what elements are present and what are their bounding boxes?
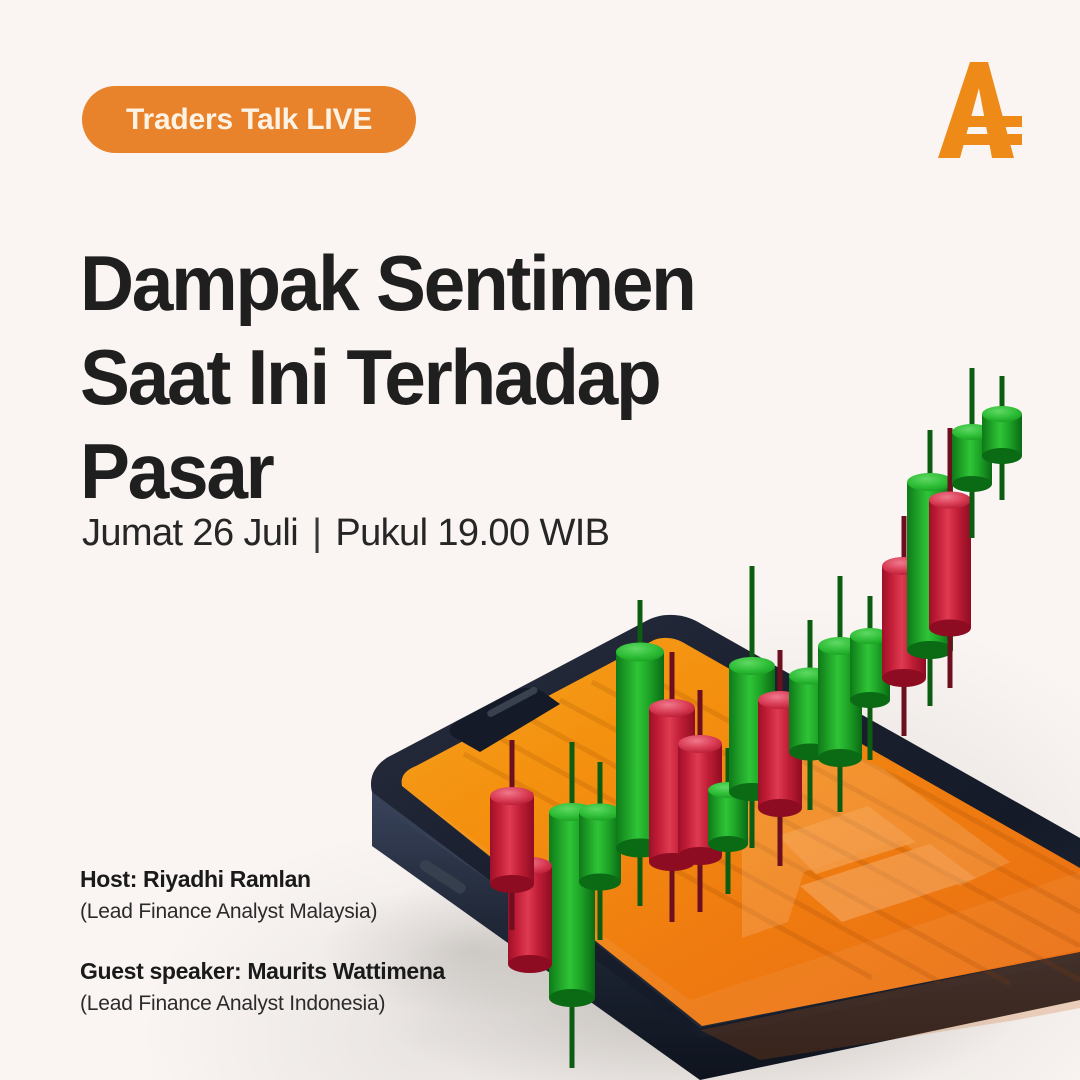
candle-2-down <box>508 792 552 973</box>
headline-line-3: Pasar <box>80 432 771 510</box>
headline-line-2: Saat Ini Terhadap <box>80 338 771 416</box>
ascendex-a-logo <box>930 58 1026 162</box>
candle-5-up <box>616 600 664 906</box>
candle-10-down <box>758 650 802 866</box>
guest-credit: Guest speaker: Maurits Wattimena (Lead F… <box>80 958 445 1016</box>
traders-talk-live-badge[interactable]: Traders Talk LIVE <box>82 86 416 153</box>
guest-name: Guest speaker: Maurits Wattimena <box>80 958 445 985</box>
candle-14-down <box>882 516 926 736</box>
candle-15-up <box>907 430 953 706</box>
schedule-line: Jumat 26 Juli | Pukul 19.00 WIB <box>82 512 609 555</box>
credits-block: Host: Riyadhi Ramlan (Lead Finance Analy… <box>80 866 445 1016</box>
phone-notch <box>450 688 560 752</box>
candle-11-up <box>789 620 831 810</box>
page-title: Dampak Sentimen Saat Ini Terhadap Pasar <box>80 244 771 526</box>
candle-9-up <box>729 566 775 848</box>
candle-8-up <box>708 748 748 894</box>
host-credit: Host: Riyadhi Ramlan (Lead Finance Analy… <box>80 866 445 924</box>
candle-13-up <box>850 596 890 760</box>
badge-label: Traders Talk LIVE <box>126 103 372 137</box>
host-name: Host: Riyadhi Ramlan <box>80 866 445 893</box>
phone-3d <box>371 615 1080 1080</box>
candle-18-up <box>982 376 1022 500</box>
screen-watermark-a-logo <box>742 716 1010 938</box>
guest-role: (Lead Finance Analyst Indonesia) <box>80 992 445 1016</box>
schedule-time: Pukul 19.00 WIB <box>335 512 609 555</box>
candle-16-down <box>929 428 971 688</box>
schedule-separator: | <box>312 512 321 555</box>
candle-6-down <box>649 652 695 922</box>
headline-line-1: Dampak Sentimen <box>80 244 771 322</box>
candle-1-up <box>549 742 595 1068</box>
candle-12-up <box>818 576 862 812</box>
candle-3-down <box>490 740 534 930</box>
host-role: (Lead Finance Analyst Malaysia) <box>80 900 445 924</box>
candle-7-down <box>678 690 722 912</box>
promo-poster: Traders Talk LIVE Dampak Sentimen Saat I… <box>0 0 1080 1080</box>
candle-17-up <box>952 368 992 538</box>
schedule-date: Jumat 26 Juli <box>82 512 298 555</box>
candle-4-up <box>579 762 621 940</box>
